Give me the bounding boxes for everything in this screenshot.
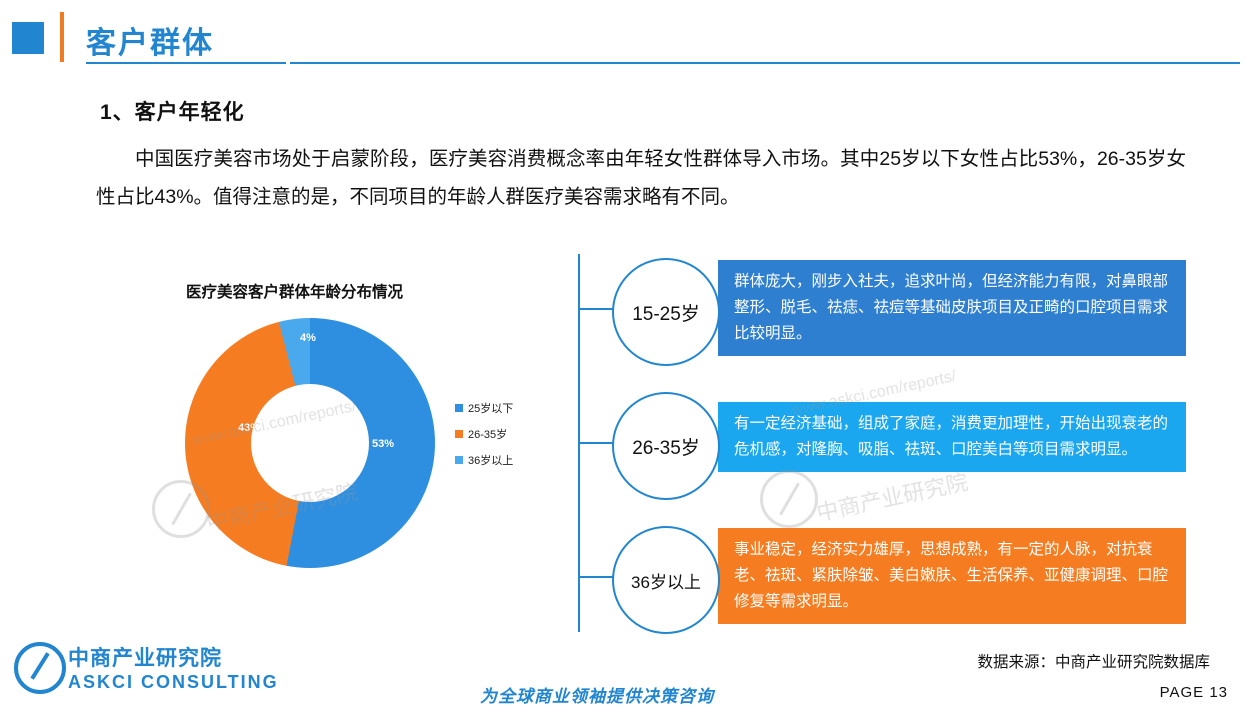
- segment-circle-1: 15-25岁: [612, 258, 720, 366]
- section-paragraph: 中国医疗美容市场处于启蒙阶段，医疗美容消费概念率由年轻女性群体导入市场。其中25…: [96, 140, 1186, 216]
- logo-chinese-name: 中商产业研究院: [68, 642, 222, 672]
- company-logo: 中商产业研究院 ASKCI CONSULTING: [14, 640, 284, 702]
- section-heading: 1、客户年轻化: [100, 96, 245, 126]
- footer-slogan: 为全球商业领袖提供决策咨询: [480, 682, 714, 707]
- slice-label-2: 43%: [238, 422, 260, 434]
- page-number: PAGE 13: [1160, 684, 1228, 701]
- slice-label-3: 4%: [300, 332, 316, 344]
- segment-circle-3: 36岁以上: [612, 526, 720, 634]
- legend-item: 26-35岁: [455, 426, 513, 442]
- legend-item: 25岁以下: [455, 400, 513, 416]
- logo-mark-icon: [14, 642, 66, 694]
- segment-band-text: 群体庞大，刚步入社夫，追求叶尚，但经济能力有限，对鼻眼部整形、脱毛、祛痣、祛痘等…: [718, 260, 1186, 356]
- age-distribution-chart: 医疗美容客户群体年龄分布情况 53% 43% 4% 25岁以下 26-35岁 3…: [120, 270, 550, 620]
- chart-title: 医疗美容客户群体年龄分布情况: [186, 280, 403, 302]
- header-square-decoration: [12, 22, 44, 54]
- header-rule-left: [86, 62, 286, 64]
- segment-circle-label: 26-35岁: [632, 433, 700, 460]
- slice-label-1: 53%: [372, 438, 394, 450]
- legend-swatch-icon: [455, 430, 463, 438]
- legend-label: 26-35岁: [468, 426, 507, 442]
- segment-circle-label: 15-25岁: [632, 299, 700, 326]
- donut-chart: [185, 318, 435, 568]
- donut-hole: [251, 384, 369, 502]
- chart-legend: 25岁以下 26-35岁 36岁以上: [455, 400, 513, 478]
- data-source-note: 数据来源：中商产业研究院数据库: [977, 650, 1210, 672]
- header-orange-bar: [60, 12, 64, 62]
- segment-circle-2: 26-35岁: [612, 392, 720, 500]
- logo-english-name: ASKCI CONSULTING: [68, 672, 279, 693]
- legend-label: 36岁以上: [468, 452, 513, 468]
- page-title: 客户群体: [86, 18, 214, 62]
- segment-band-2: 有一定经济基础，组成了家庭，消费更加理性，开始出现衰老的危机感，对隆胸、吸脂、祛…: [718, 402, 1186, 472]
- segment-band-1: 群体庞大，刚步入社夫，追求叶尚，但经济能力有限，对鼻眼部整形、脱毛、祛痣、祛痘等…: [718, 260, 1186, 356]
- age-segment-flow: 15-25岁 26-35岁 36岁以上 群体庞大，刚步入社夫，追求叶尚，但经济能…: [566, 250, 1186, 650]
- watermark-logo-icon: [152, 480, 210, 538]
- legend-swatch-icon: [455, 456, 463, 464]
- segment-band-3: 事业稳定，经济实力雄厚，思想成熟，有一定的人脉，对抗衰老、祛斑、紧肤除皱、美白嫩…: [718, 528, 1186, 624]
- watermark-logo-icon: [760, 470, 818, 528]
- legend-item: 36岁以上: [455, 452, 513, 468]
- legend-label: 25岁以下: [468, 400, 513, 416]
- segment-circle-label: 36岁以上: [631, 568, 701, 593]
- header-rule-right: [290, 62, 1240, 64]
- page-header: 客户群体: [0, 0, 1250, 74]
- legend-swatch-icon: [455, 404, 463, 412]
- segment-band-text: 有一定经济基础，组成了家庭，消费更加理性，开始出现衰老的危机感，对隆胸、吸脂、祛…: [718, 402, 1186, 472]
- segment-band-text: 事业稳定，经济实力雄厚，思想成熟，有一定的人脉，对抗衰老、祛斑、紧肤除皱、美白嫩…: [718, 528, 1186, 624]
